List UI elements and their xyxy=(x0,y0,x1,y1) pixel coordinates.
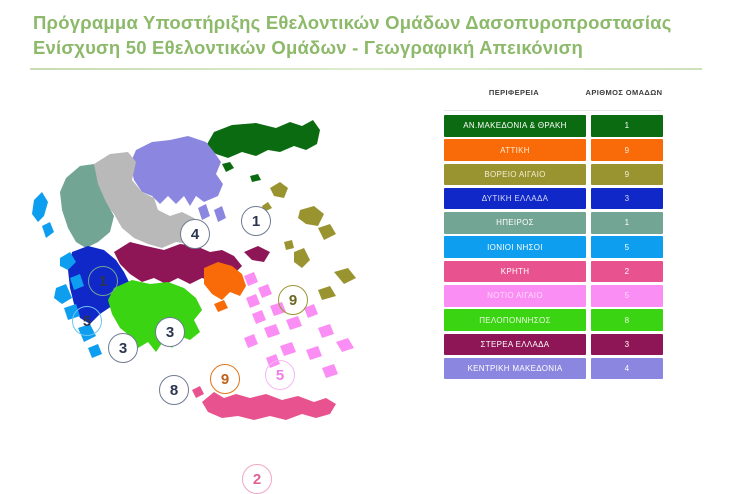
region-anatoliki-makedonia-thraki xyxy=(206,120,320,182)
cell-region-name: ΔΥΤΙΚΗ ΕΛΛΑΔΑ xyxy=(444,188,586,210)
table-row: ΚΕΝΤΡΙΚΗ ΜΑΚΕΔΟΝΙΑ4 xyxy=(444,358,664,380)
regions-table: ΠΕΡΙΦΕΡΕΙΑ ΑΡΙΘΜΟΣ ΟΜΑΔΩΝ ΑΝ.ΜΑΚΕΔΟΝΙΑ &… xyxy=(444,88,664,382)
table-row: ΑΝ.ΜΑΚΕΔΟΝΙΑ & ΘΡΑΚΗ1 xyxy=(444,115,664,137)
cell-group-count: 5 xyxy=(591,236,663,258)
marker-value: 2 xyxy=(253,471,261,488)
region-attiki xyxy=(204,262,246,312)
marker-value: 1 xyxy=(99,273,107,290)
cell-region-name: ΚΕΝΤΡΙΚΗ ΜΑΚΕΔΟΝΙΑ xyxy=(444,358,586,380)
table-header-row: ΠΕΡΙΦΕΡΕΙΑ ΑΡΙΘΜΟΣ ΟΜΑΔΩΝ xyxy=(444,88,664,108)
cell-region-name: ΑΝ.ΜΑΚΕΔΟΝΙΑ & ΘΡΑΚΗ xyxy=(444,115,586,137)
cell-region-name: ΝΟΤΙΟ ΑΙΓΑΙΟ xyxy=(444,285,586,307)
table-row: ΑΤΤΙΚΗ9 xyxy=(444,139,664,161)
cell-region-name: ΣΤΕΡΕΑ ΕΛΛΑΔΑ xyxy=(444,334,586,356)
cell-region-name: ΚΡΗΤΗ xyxy=(444,261,586,283)
table-row: ΝΟΤΙΟ ΑΙΓΑΙΟ5 xyxy=(444,285,664,307)
cell-group-count: 1 xyxy=(591,115,663,137)
table-body: ΑΝ.ΜΑΚΕΔΟΝΙΑ & ΘΡΑΚΗ1ΑΤΤΙΚΗ9ΒΟΡΕΙΟ ΑΙΓΑΙ… xyxy=(444,115,664,379)
marker-value: 5 xyxy=(276,367,284,384)
marker-notio-aigaio[interactable]: 5 xyxy=(265,360,295,390)
marker-ionioi-nisoi[interactable]: 5 xyxy=(72,306,102,336)
marker-attiki[interactable]: 9 xyxy=(210,364,240,394)
cell-group-count: 5 xyxy=(591,285,663,307)
title-divider xyxy=(30,68,702,70)
table-row: ΚΡΗΤΗ2 xyxy=(444,261,664,283)
marker-kriti[interactable]: 2 xyxy=(242,464,272,494)
table-header-divider xyxy=(444,110,662,111)
marker-value: 3 xyxy=(119,340,127,357)
page-title: Πρόγραμμα Υποστήριξης Εθελοντικών Ομάδων… xyxy=(33,10,693,60)
marker-value: 1 xyxy=(252,213,260,230)
marker-ipeiros[interactable]: 1 xyxy=(88,266,118,296)
region-kriti xyxy=(192,386,336,420)
greece-map: 1 4 1 9 5 3 3 8 9 5 2 xyxy=(18,92,418,437)
table-row: ΔΥΤΙΚΗ ΕΛΛΑΔΑ3 xyxy=(444,188,664,210)
table-row: ΠΕΛΟΠΟΝΝΗΣΟΣ8 xyxy=(444,309,664,331)
cell-group-count: 3 xyxy=(591,334,663,356)
marker-kentriki-makedonia[interactable]: 4 xyxy=(180,219,210,249)
cell-group-count: 9 xyxy=(591,139,663,161)
cell-region-name: ΑΤΤΙΚΗ xyxy=(444,139,586,161)
column-header-count: ΑΡΙΘΜΟΣ ΟΜΑΔΩΝ xyxy=(584,88,664,97)
cell-group-count: 9 xyxy=(591,164,663,186)
cell-region-name: ΗΠΕΙΡΟΣ xyxy=(444,212,586,234)
marker-value: 9 xyxy=(289,292,297,309)
marker-anatoliki-makedonia-thraki[interactable]: 1 xyxy=(241,206,271,236)
cell-region-name: ΙΟΝΙΟΙ ΝΗΣΟΙ xyxy=(444,236,586,258)
cell-group-count: 1 xyxy=(591,212,663,234)
marker-voreio-aigaio[interactable]: 9 xyxy=(278,285,308,315)
title-line-1: Πρόγραμμα Υποστήριξης Εθελοντικών Ομάδων… xyxy=(33,10,693,35)
marker-value: 8 xyxy=(170,382,178,399)
cell-group-count: 3 xyxy=(591,188,663,210)
marker-sterea-ellada[interactable]: 3 xyxy=(155,317,185,347)
marker-value: 5 xyxy=(83,313,91,330)
cell-group-count: 2 xyxy=(591,261,663,283)
marker-dytiki-ellada[interactable]: 3 xyxy=(108,333,138,363)
column-header-region: ΠΕΡΙΦΕΡΕΙΑ xyxy=(444,88,584,97)
table-row: ΙΟΝΙΟΙ ΝΗΣΟΙ5 xyxy=(444,236,664,258)
cell-group-count: 4 xyxy=(591,358,663,380)
table-row: ΗΠΕΙΡΟΣ1 xyxy=(444,212,664,234)
table-row: ΒΟΡΕΙΟ ΑΙΓΑΙΟ9 xyxy=(444,164,664,186)
table-row: ΣΤΕΡΕΑ ΕΛΛΑΔΑ3 xyxy=(444,334,664,356)
marker-peloponnisos[interactable]: 8 xyxy=(159,375,189,405)
region-voreio-aigaio xyxy=(262,182,356,300)
cell-group-count: 8 xyxy=(591,309,663,331)
marker-value: 3 xyxy=(166,324,174,341)
title-line-2: Ενίσχυση 50 Εθελοντικών Ομάδων - Γεωγραφ… xyxy=(33,35,693,60)
cell-region-name: ΠΕΛΟΠΟΝΝΗΣΟΣ xyxy=(444,309,586,331)
cell-region-name: ΒΟΡΕΙΟ ΑΙΓΑΙΟ xyxy=(444,164,586,186)
slide-root: Πρόγραμμα Υποστήριξης Εθελοντικών Ομάδων… xyxy=(0,0,734,448)
marker-value: 9 xyxy=(221,371,229,388)
marker-value: 4 xyxy=(191,226,199,243)
